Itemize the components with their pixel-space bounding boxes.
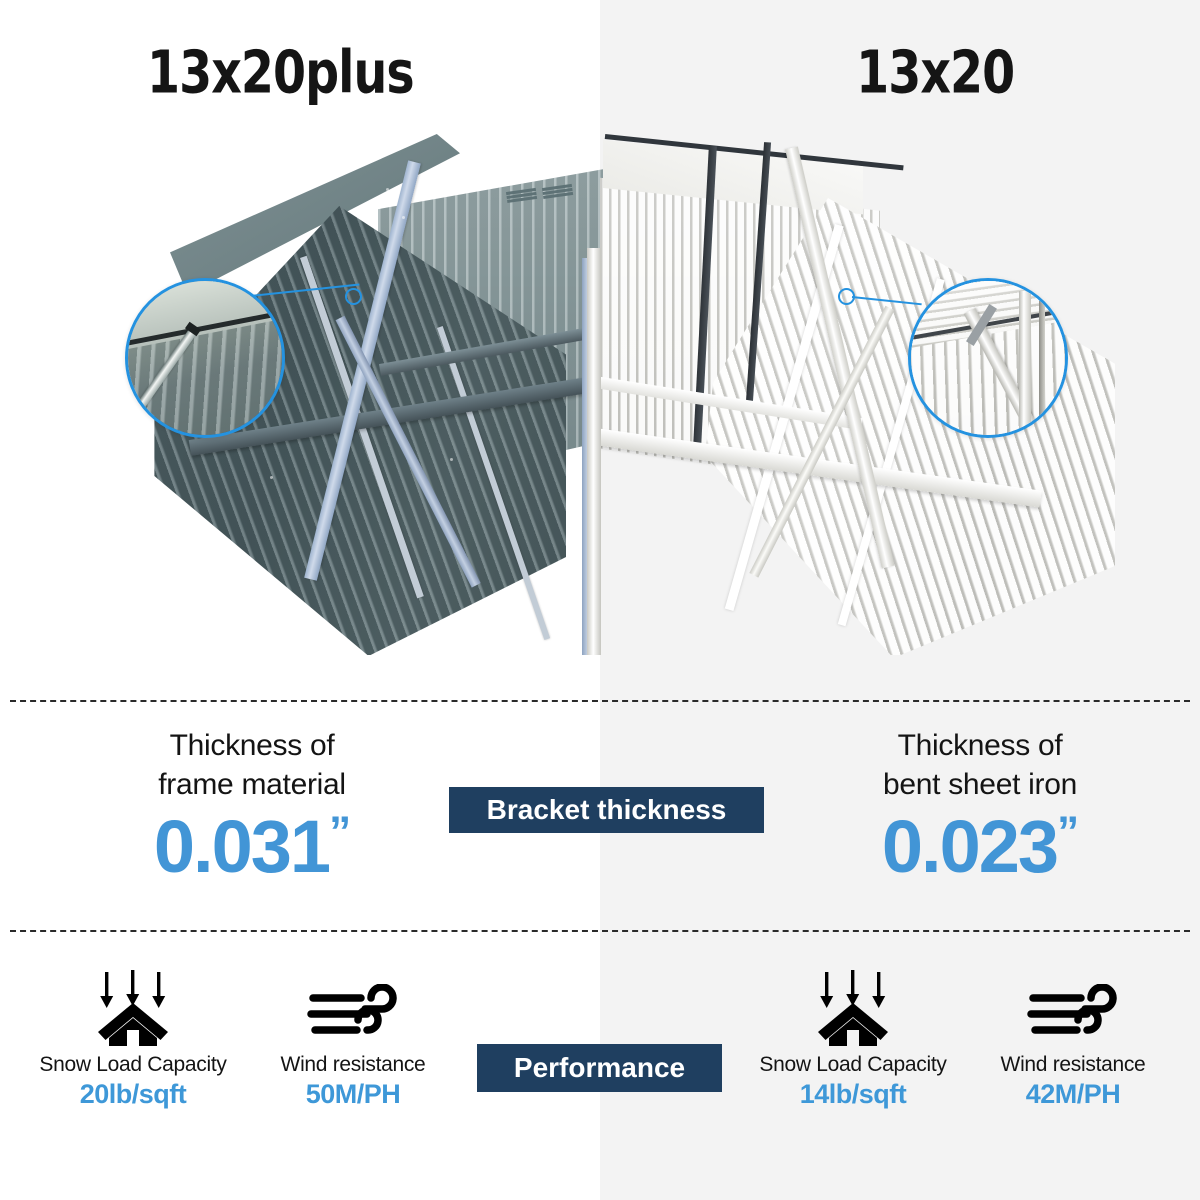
bracket-value-left-number: 0.031 xyxy=(154,805,329,888)
bolt-dot xyxy=(270,476,273,479)
callout-left-anchor-dot xyxy=(345,288,362,305)
performance-name: Snow Load Capacity xyxy=(748,1052,958,1077)
bolt-dot xyxy=(450,458,453,461)
badge-bracket-thickness: Bracket thickness xyxy=(449,787,764,833)
right-shed-corner-post xyxy=(587,248,601,655)
performance-group-left: Snow Load Capacity 20lb/sqft Wind resist… xyxy=(28,968,458,1110)
performance-value: 50M/PH xyxy=(248,1079,458,1110)
snow-load-house-icon xyxy=(748,968,958,1046)
bracket-thickness-left: Thickness of frame material 0.031” xyxy=(62,726,442,889)
performance-item-snow-left: Snow Load Capacity 20lb/sqft xyxy=(28,968,238,1110)
performance-name: Wind resistance xyxy=(968,1052,1178,1077)
product-comparison-photo xyxy=(0,110,1200,655)
performance-item-wind-right: Wind resistance 42M/PH xyxy=(968,968,1178,1110)
divider-dashed-top xyxy=(10,700,1190,702)
bracket-value-left: 0.031” xyxy=(62,806,442,889)
bolt-dot xyxy=(402,216,405,219)
bracket-label-right-line1: Thickness of xyxy=(790,726,1170,765)
snow-load-house-icon xyxy=(28,968,238,1046)
bracket-value-right: 0.023” xyxy=(790,806,1170,889)
performance-name: Wind resistance xyxy=(248,1052,458,1077)
divider-dashed-bottom xyxy=(10,930,1190,932)
bracket-label-left-line2: frame material xyxy=(62,765,442,804)
bracket-value-right-number: 0.023 xyxy=(882,805,1057,888)
callout-right-magnifier xyxy=(908,278,1068,438)
performance-value: 42M/PH xyxy=(968,1079,1178,1110)
callout-right-vertical-post xyxy=(1039,301,1045,438)
product-title-left: 13x20plus xyxy=(147,38,414,106)
performance-item-snow-right: Snow Load Capacity 14lb/sqft xyxy=(748,968,958,1110)
bracket-thickness-right: Thickness of bent sheet iron 0.023” xyxy=(790,726,1170,889)
wind-resistance-icon xyxy=(248,968,458,1046)
product-title-right: 13x20 xyxy=(856,38,1014,106)
bolt-dot xyxy=(386,188,389,191)
badge-performance: Performance xyxy=(477,1044,722,1092)
bracket-label-left: Thickness of frame material xyxy=(62,726,442,804)
performance-value: 14lb/sqft xyxy=(748,1079,958,1110)
callout-right-vertical-post xyxy=(1019,291,1031,438)
callout-left-magnifier xyxy=(125,278,285,438)
callout-right-anchor-dot xyxy=(838,288,855,305)
bracket-label-right: Thickness of bent sheet iron xyxy=(790,726,1170,804)
performance-name: Snow Load Capacity xyxy=(28,1052,238,1077)
wind-resistance-icon xyxy=(968,968,1178,1046)
performance-item-wind-left: Wind resistance 50M/PH xyxy=(248,968,458,1110)
bracket-value-left-unit: ” xyxy=(329,807,350,856)
performance-value: 20lb/sqft xyxy=(28,1079,238,1110)
bracket-value-right-unit: ” xyxy=(1057,807,1078,856)
bracket-label-left-line1: Thickness of xyxy=(62,726,442,765)
bracket-label-right-line2: bent sheet iron xyxy=(790,765,1170,804)
performance-group-right: Snow Load Capacity 14lb/sqft Wind resist… xyxy=(748,968,1178,1110)
